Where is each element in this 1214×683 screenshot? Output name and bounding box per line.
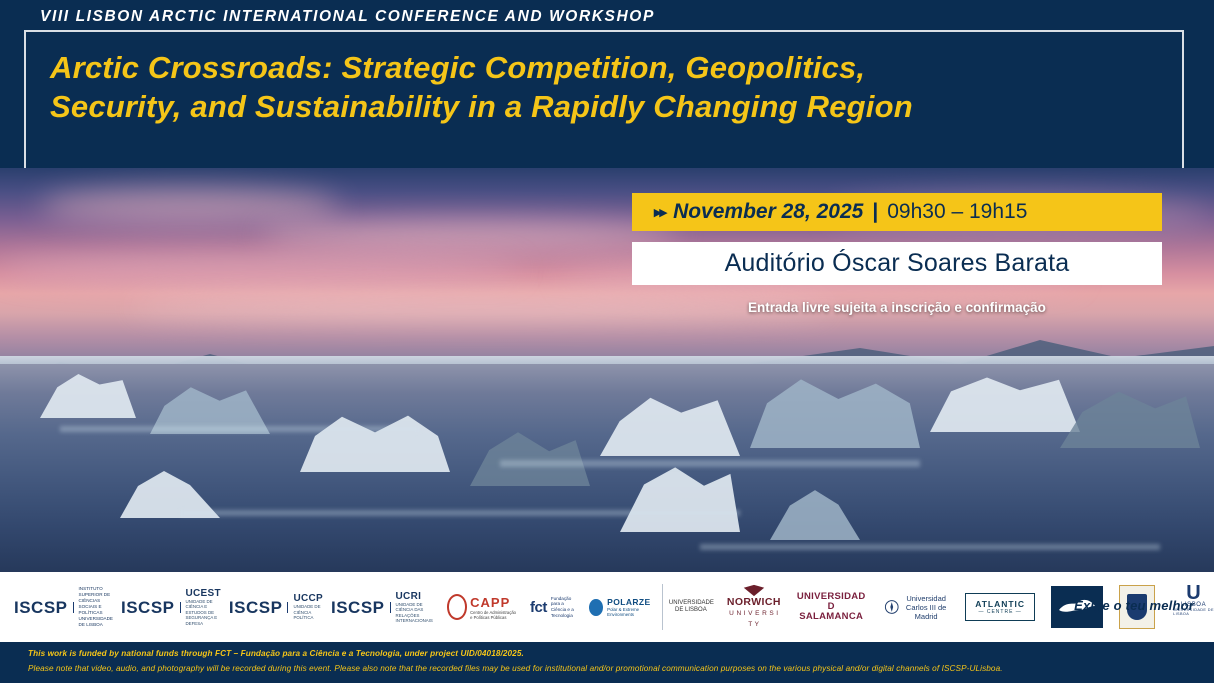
logo-ucri: ISCSP UCRI UNIDADE DE CIÊNCIA DAS RELAÇÕ…	[331, 584, 433, 630]
page-title: Arctic Crossroads: Strategic Competition…	[50, 48, 1150, 126]
iscsp-mark-ucri: ISCSP	[331, 602, 391, 613]
cloud-3	[0, 252, 520, 286]
recording-note: Please note that video, audio, and photo…	[28, 664, 1003, 673]
polarze-dot-icon	[589, 599, 603, 616]
norwich-name-2: U N I V E R S I T Y	[727, 608, 781, 630]
salamanca-name-2: D SALAMANCA	[797, 602, 866, 622]
logo-iscsp: ISCSP INSTITUTO SUPERIOR DE CIÊNCIAS SOC…	[14, 584, 113, 630]
water-reflection-1	[60, 426, 420, 432]
iscsp-subtitle: INSTITUTO SUPERIOR DE CIÊNCIAS SOCIAIS E…	[79, 586, 113, 628]
ucri-subtitle: UNIDADE DE CIÊNCIA DAS RELAÇÕES INTERNAC…	[396, 602, 433, 624]
logo-salamanca: UNIVERSIDAD D SALAMANCA	[797, 584, 866, 630]
tagline: Exige o teu melhor	[1074, 598, 1194, 613]
funding-note: This work is funded by national funds th…	[28, 649, 524, 658]
ulisboa-mini-subtitle: UNIVERSIDADE DE LISBOA	[669, 600, 713, 614]
chevron-right-icon: ▸▸	[654, 203, 665, 221]
event-date: November 28, 2025	[673, 200, 863, 224]
polarze-subtitle: Polar & Extreme Environments	[607, 607, 654, 617]
polarze-name: POLARZE	[607, 597, 654, 607]
water-reflection-2	[500, 460, 920, 467]
carlos3-seal-icon	[884, 594, 900, 620]
event-venue-bar: Auditório Óscar Soares Barata	[632, 242, 1162, 285]
capp-subtitle: Centro de Administração e Políticas Públ…	[470, 610, 516, 620]
carlos3-name-1: Universidad	[903, 594, 949, 603]
event-date-bar: ▸▸ November 28, 2025 | 09h30 – 19h15	[632, 193, 1162, 231]
logo-ulisboa-mini: UNIVERSIDADE DE LISBOA	[662, 584, 713, 630]
capp-name: CAPP	[470, 595, 516, 610]
ucri-name: UCRI	[396, 591, 433, 602]
iscsp-letters-uccp: ISCSP	[229, 602, 283, 613]
fct-subtitle: Fundação para a Ciência e a Tecnologia	[551, 596, 576, 618]
logo-carlos3: Universidad Carlos III de Madrid	[884, 584, 950, 630]
water-reflection-3	[180, 510, 740, 516]
iscsp-mark-uccp: ISCSP	[229, 602, 289, 613]
ucest-name: UCEST	[186, 588, 221, 599]
logo-list: ISCSP INSTITUTO SUPERIOR DE CIÊNCIAS SOC…	[14, 576, 1214, 638]
iscsp-mark-ucest: ISCSP	[121, 602, 181, 613]
iscsp-letters: ISCSP	[14, 602, 68, 613]
conference-kicker: VIII LISBON ARCTIC INTERNATIONAL CONFERE…	[40, 8, 655, 26]
title-line-2: Security, and Sustainability in a Rapidl…	[50, 87, 1150, 126]
atlantic-centre-box: ATLANTIC — CENTRE —	[965, 593, 1035, 621]
date-time-separator: |	[872, 200, 878, 224]
atlantic-centre-subtitle: — CENTRE —	[975, 609, 1025, 615]
cloud-1	[40, 188, 340, 224]
sponsor-logo-strip: ISCSP INSTITUTO SUPERIOR DE CIÊNCIAS SOC…	[0, 572, 1214, 642]
uccp-subtitle: UNIDADE DE CIÊNCIA POLÍTICA	[293, 604, 323, 621]
logo-ucest: ISCSP UCEST UNIDADE DE CIÊNCIA E ESTUDOS…	[121, 584, 221, 630]
logo-polarze: POLARZE Polar & Extreme Environments	[589, 584, 653, 630]
logo-fct: fct Fundação para a Ciência e a Tecnolog…	[530, 584, 575, 630]
fct-name: fct	[530, 599, 547, 616]
event-time: 09h30 – 19h15	[887, 200, 1027, 224]
event-venue: Auditório Óscar Soares Barata	[725, 249, 1070, 278]
iscsp-letters-ucri: ISCSP	[331, 602, 385, 613]
registration-note: Entrada livre sujeita a inscrição e conf…	[632, 300, 1162, 315]
ucest-subtitle: UNIDADE DE CIÊNCIA E ESTUDOS DE SEGURANÇ…	[186, 599, 221, 627]
norwich-name-1: NORWICH	[727, 597, 781, 608]
uccp-name: UCCP	[293, 593, 323, 604]
conference-poster: VIII LISBON ARCTIC INTERNATIONAL CONFERE…	[0, 0, 1214, 683]
logo-norwich: NORWICH U N I V E R S I T Y	[727, 584, 781, 630]
capp-circle-icon	[447, 594, 467, 620]
iscsp-mark: ISCSP	[14, 602, 74, 613]
footer-band: This work is funded by national funds th…	[0, 642, 1214, 683]
water-reflection-4	[700, 544, 1160, 550]
atlantic-centre-name: ATLANTIC	[975, 599, 1025, 609]
logo-atlantic-centre: ATLANTIC — CENTRE —	[965, 584, 1035, 630]
carlos3-name-2: Carlos III de Madrid	[903, 603, 949, 621]
logo-uccp: ISCSP UCCP UNIDADE DE CIÊNCIA POLÍTICA	[229, 584, 323, 630]
cloud-2	[260, 220, 680, 250]
iscsp-letters-ucest: ISCSP	[121, 602, 175, 613]
logo-capp: CAPP Centro de Administração e Políticas…	[447, 584, 516, 630]
title-line-1: Arctic Crossroads: Strategic Competition…	[50, 48, 1150, 87]
